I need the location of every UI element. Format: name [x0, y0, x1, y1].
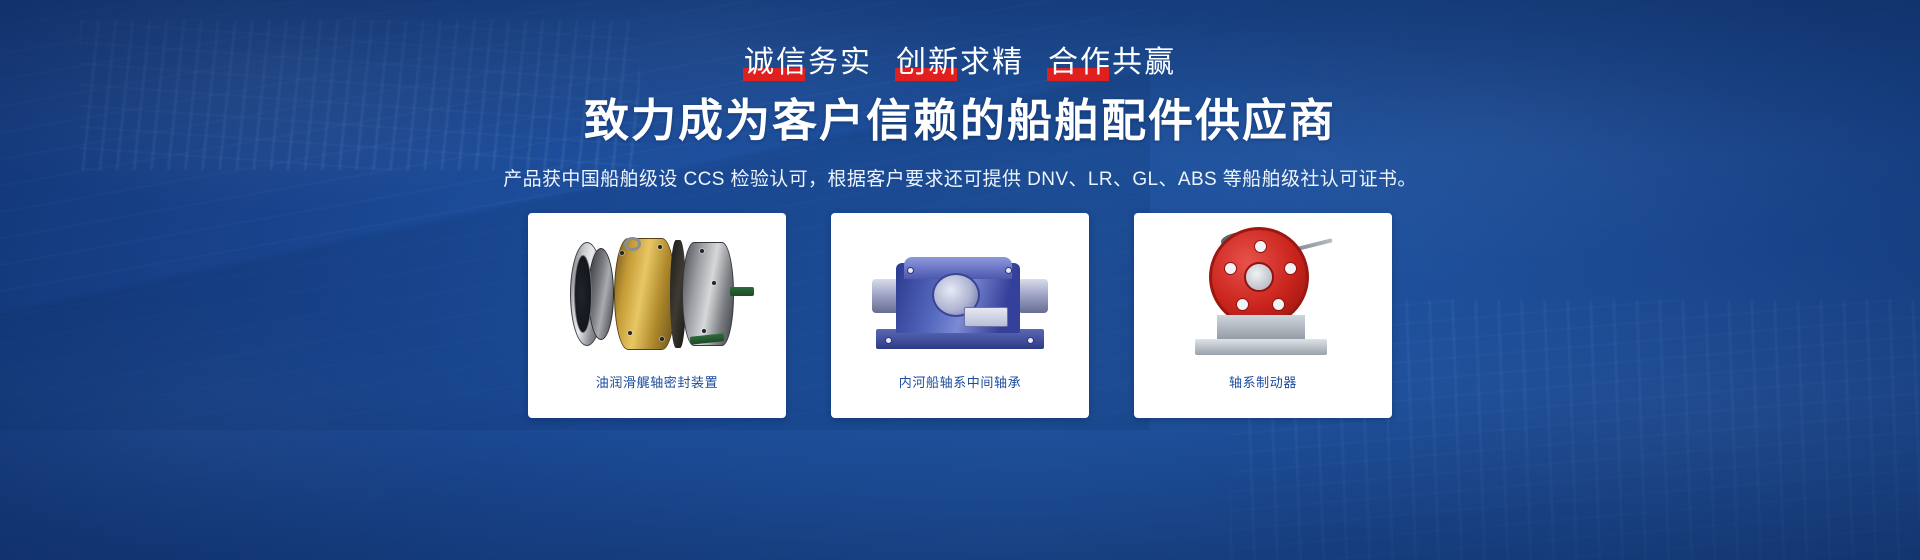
brake-disc-hole: [1272, 298, 1285, 311]
intermediate-bearing-illustration: [870, 235, 1050, 353]
slogan-part-3-label: 合作共赢: [1048, 46, 1176, 79]
slogan-part-2: 创新求精: [895, 48, 1025, 78]
hero-banner: 诚信务实 创新求精 合作共赢 致力成为客户信赖的船舶配件供应商 产品获中国船舶级…: [0, 0, 1920, 560]
product-card-caption: 轴系制动器: [1229, 375, 1297, 391]
shaft-brake-photo: [1148, 219, 1378, 369]
banner-content: 诚信务实 创新求精 合作共赢 致力成为客户信赖的船舶配件供应商 产品获中国船舶级…: [0, 0, 1920, 560]
seal-bolt: [620, 251, 624, 255]
brake-disc-hole: [1284, 262, 1297, 275]
seal-green-lug-a: [730, 287, 754, 296]
seal-bolt: [660, 337, 664, 341]
bearing-bolt: [1028, 338, 1033, 343]
oil-lubricated-stern-shaft-seal-photo: [542, 219, 772, 369]
slogan-part-2-label: 创新求精: [896, 46, 1024, 79]
seal-steel-flange-right: [682, 242, 734, 346]
bearing-bolt: [908, 268, 913, 273]
brake-base-plate: [1195, 339, 1327, 355]
banner-subtitle: 产品获中国船舶级设 CCS 检验认可，根据客户要求还可提供 DNV、LR、GL、…: [503, 164, 1417, 191]
bearing-bolt: [886, 338, 891, 343]
slogan-part-3: 合作共赢: [1047, 48, 1177, 78]
slogan-part-1: 诚信务实: [743, 48, 873, 78]
seal-bolt: [658, 245, 662, 249]
banner-slogan: 诚信务实 创新求精 合作共赢: [743, 48, 1177, 78]
slogan-part-1-label: 诚信务实: [744, 46, 872, 79]
shaft-brake-illustration: [1173, 231, 1353, 357]
product-card[interactable]: 轴系制动器: [1134, 213, 1392, 418]
seal-assembly-illustration: [562, 235, 752, 353]
brake-disc-hole: [1236, 298, 1249, 311]
banner-headline: 致力成为客户信赖的船舶配件供应商: [584, 96, 1336, 146]
bearing-bolt: [1006, 268, 1011, 273]
product-card-caption: 内河船轴系中间轴承: [899, 375, 1021, 391]
product-card[interactable]: 油润滑艉轴密封装置: [528, 213, 786, 418]
seal-bolt: [700, 249, 704, 253]
brake-disc-hole: [1254, 240, 1267, 253]
seal-lifting-eye: [624, 237, 641, 251]
seal-bolt: [712, 281, 716, 285]
bearing-shaft-right: [1018, 279, 1048, 313]
brake-disc: [1209, 227, 1309, 327]
brake-pedestal: [1217, 315, 1305, 341]
seal-bolt: [628, 331, 632, 335]
brake-disc-hole: [1224, 262, 1237, 275]
seal-bolt: [702, 329, 706, 333]
inland-river-intermediate-shaft-bearing-photo: [845, 219, 1075, 369]
seal-bore: [574, 255, 592, 333]
product-card-list: 油润滑艉轴密封装置: [528, 213, 1392, 418]
brake-disc-hub: [1244, 262, 1274, 292]
product-card-caption: 油润滑艉轴密封装置: [596, 375, 718, 391]
bearing-name-plate: [964, 307, 1008, 327]
product-card[interactable]: 内河船轴系中间轴承: [831, 213, 1089, 418]
